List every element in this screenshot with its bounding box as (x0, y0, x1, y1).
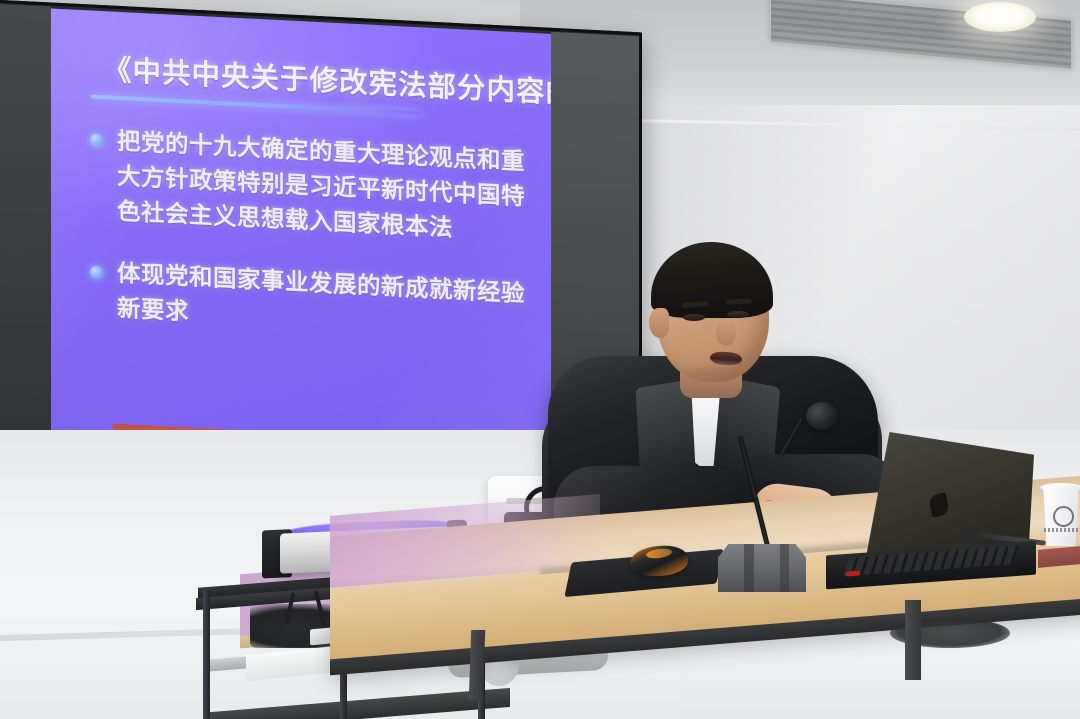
floor-area (680, 636, 1080, 719)
slide-bullet-text: 把党的十九大确定的重大理论观点和重大方针政策特别是习近平新时代中国特色社会主义思… (117, 124, 533, 250)
projected-slide[interactable]: 《中共中央关于修改宪法部分内容的建议》 把党的十九大确定的重大理论观点和重大方针… (51, 9, 551, 471)
conference-room-photo: 《中共中央关于修改宪法部分内容的建议》 把党的十九大确定的重大理论观点和重大方针… (0, 0, 1080, 719)
bullet-dot-icon (90, 134, 103, 148)
table-leg (905, 600, 921, 680)
microphone-base[interactable] (718, 544, 806, 592)
table-leg (469, 630, 485, 700)
slide-bullet-text: 体现党和国家事业发展的新成就新经验新要求 (117, 256, 533, 347)
chin-shadow (680, 364, 750, 382)
microphone-base-groove (744, 544, 754, 592)
microphone-capsule (806, 402, 838, 430)
ear (649, 308, 669, 338)
bullet-dot-icon (90, 266, 103, 280)
rack-post (203, 590, 210, 719)
slide-bullet-item: 把党的十九大确定的重大理论观点和重大方针政策特别是习近平新时代中国特色社会主义思… (85, 122, 533, 250)
hair (651, 242, 773, 318)
table-object-red (1038, 546, 1080, 568)
cup-logo-icon (1053, 506, 1074, 527)
display-left-panel (0, 4, 51, 447)
ceiling-light-icon (964, 2, 1036, 32)
slide-bullet-item: 体现党和国家事业发展的新成就新经验新要求 (85, 254, 533, 347)
cup-logo-text (1044, 528, 1078, 532)
eye-right (727, 311, 749, 318)
laptop-indicator-led (846, 571, 860, 577)
eye-left (683, 314, 705, 321)
microphone-base-groove (780, 544, 789, 592)
nose (716, 320, 736, 346)
laptop-power-plug (959, 527, 980, 546)
